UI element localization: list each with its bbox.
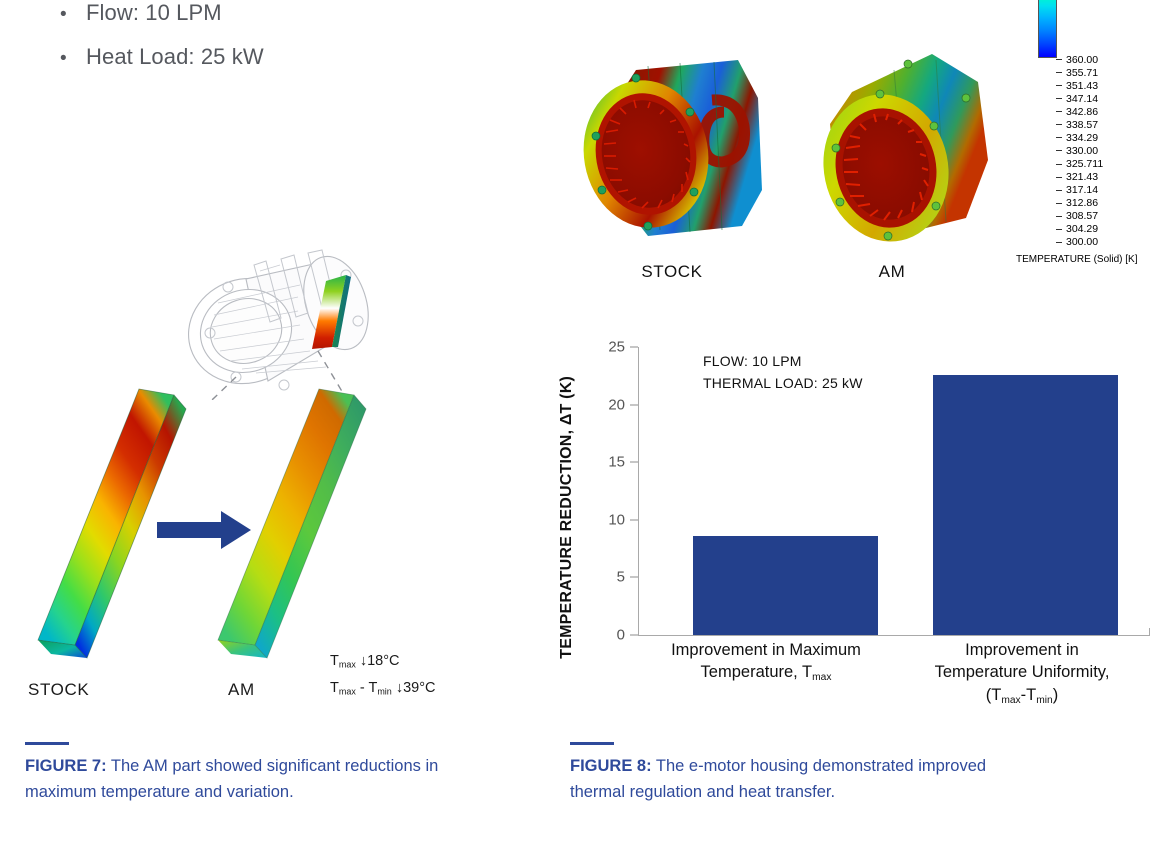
tick-mark-icon [630,347,638,348]
tick-dash-icon [1056,59,1062,60]
tick-dash-icon [1056,203,1062,204]
tick-dash-icon [1056,229,1062,230]
y-axis-line [638,347,639,635]
annot-t-symbol: T [330,680,339,696]
tick-dash-icon [1056,242,1062,243]
tick-dash-icon [1056,190,1062,191]
bullet-label: Heat Load: 25 kW [86,44,264,70]
tick-dash-icon [1056,216,1062,217]
caption-rule [570,742,614,745]
tick-dash-icon [1056,137,1062,138]
colorbar-tick: 360.00 [1056,53,1103,66]
annotation-flow: FLOW: 10 LPM [703,351,863,373]
y-tick-25: 25 [608,339,638,356]
annot-min-subscript: min [377,686,391,696]
colorbar-tick: 317.14 [1056,184,1103,197]
stock-housing-thermal-render [562,40,782,255]
fig8-stock-label: STOCK [602,262,742,282]
spec-bullet-list: • Flow: 10 LPM • Heat Load: 25 kW [60,0,520,88]
colorbar-tick: 325.711 [1056,158,1103,171]
colorbar-tick: 330.00 [1056,144,1103,157]
tick-mark-icon [630,462,638,463]
fig7-am-label: AM [228,680,255,700]
am-plate-thermal-render [188,375,403,675]
figure-8-caption: FIGURE 8: The e-motor housing demonstrat… [570,742,1040,805]
caption-rule [25,742,69,745]
colorbar-tick: 312.86 [1056,197,1103,210]
colorbar-tick: 334.29 [1056,131,1103,144]
caption-label: FIGURE 8: [570,757,652,775]
figure-8-renders: STOCK AM [560,40,1030,270]
figure-7-graphic: STOCK AM [0,215,540,725]
tick-dash-icon [1056,150,1062,151]
annotation-tmax-line: Tmax ↓18°C [330,648,436,675]
bar-improvement-uniformity [933,375,1118,635]
y-tick-20: 20 [608,396,638,413]
x-axis-line [638,635,1150,636]
tick-mark-icon [630,404,638,405]
colorbar-tick: 342.86 [1056,105,1103,118]
y-tick-15: 15 [608,454,638,471]
colorbar-tick: 321.43 [1056,171,1103,184]
figure-7-caption: FIGURE 7: The AM part showed significant… [25,742,495,805]
fig8-am-label: AM [822,262,962,282]
chart-condition-annotations: FLOW: 10 LPM THERMAL LOAD: 25 kW [703,351,863,394]
tick-dash-icon [1056,72,1062,73]
list-item: • Heat Load: 25 kW [60,44,520,70]
annot-delta-value: ↓18°C [356,653,400,669]
colorbar-tick: 355.71 [1056,66,1103,79]
tick-dash-icon [1056,98,1062,99]
am-housing-thermal-render [790,40,1010,255]
colorbar-tick: 347.14 [1056,92,1103,105]
colorbar-tick: 351.43 [1056,79,1103,92]
tick-dash-icon [1056,124,1062,125]
colorbar-tick: 338.57 [1056,118,1103,131]
annotation-uniformity-line: Tmax - Tmin ↓39°C [330,675,436,702]
tick-dash-icon [1056,85,1062,86]
motor-housing-wireframe-icon [150,225,400,400]
tick-mark-icon [630,519,638,520]
bullet-icon: • [60,5,86,24]
tick-dash-icon [1056,111,1062,112]
bar-improvement-max-temperature [693,536,878,635]
colorbar-tick: 304.29 [1056,223,1103,236]
annot-minus-t: - T [356,680,377,696]
colorbar-title: TEMPERATURE (Solid) [K] [1016,254,1138,265]
colorbar-tick: 308.57 [1056,210,1103,223]
chart-plot-area: 25 20 15 10 5 0 FLOW: 10 LPM THERMAL LOA… [638,347,1150,635]
colorbar-gradient [1038,0,1057,58]
x-label-formula: (Tmax-Tmin) [894,684,1150,708]
x-axis-end-tick [1149,628,1150,636]
colorbar-tick-list: 360.00 355.71 351.43 347.14 342.86 338.5… [1056,53,1103,249]
tick-mark-icon [630,577,638,578]
annot-max-subscript: max [339,686,356,696]
annot-t-symbol: T [330,653,339,669]
colorbar-tick: 300.00 [1056,236,1103,249]
fig7-temperature-annotation: Tmax ↓18°C Tmax - Tmin ↓39°C [330,648,436,702]
bullet-icon: • [60,49,86,68]
temperature-reduction-bar-chart: TEMPERATURE REDUCTION, ΔT (K) 25 20 15 1… [560,330,1160,650]
x-label-uniformity: Improvement in Temperature Uniformity, (… [894,639,1150,707]
y-tick-0: 0 [617,627,638,644]
caption-text: FIGURE 7: The AM part showed significant… [25,754,495,805]
fig7-stock-label: STOCK [28,680,89,700]
list-item: • Flow: 10 LPM [60,0,520,26]
tick-dash-icon [1056,177,1062,178]
annotation-thermal-load: THERMAL LOAD: 25 kW [703,373,863,395]
chart-x-axis-labels: Improvement in Maximum Temperature, Tmax… [638,639,1150,707]
y-tick-5: 5 [617,569,638,586]
caption-text: FIGURE 8: The e-motor housing demonstrat… [570,754,1040,805]
tick-mark-icon [630,635,638,636]
bullet-label: Flow: 10 LPM [86,0,222,26]
y-tick-10: 10 [608,511,638,528]
tick-dash-icon [1056,164,1062,165]
annot-delta-value: ↓39°C [392,680,436,696]
chart-y-axis-title: TEMPERATURE REDUCTION, ΔT (K) [558,376,576,659]
annot-max-subscript: max [339,660,356,670]
caption-label: FIGURE 7: [25,757,107,775]
x-label-max-temperature: Improvement in Maximum Temperature, Tmax [638,639,894,707]
